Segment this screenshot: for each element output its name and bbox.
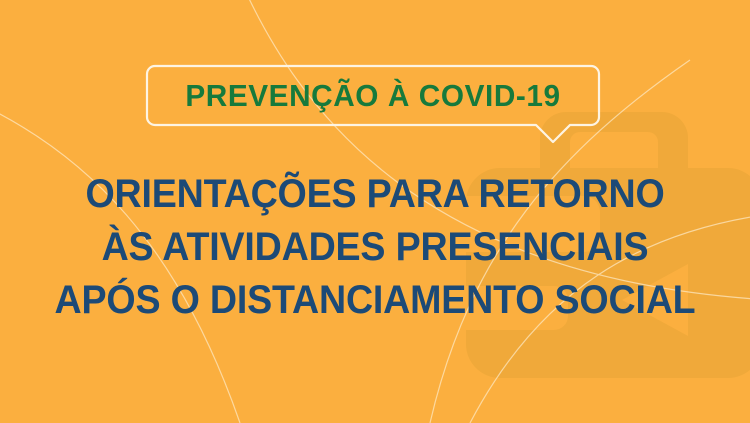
headline-line-1: ORIENTAÇÕES PARA RETORNO bbox=[23, 168, 728, 221]
page-title: ORIENTAÇÕES PARA RETORNO ÀS ATIVIDADES P… bbox=[0, 168, 750, 327]
covid-prevention-banner: PREVENÇÃO À COVID-19 ORIENTAÇÕES PARA RE… bbox=[0, 0, 750, 423]
headline-line-2: ÀS ATIVIDADES PRESENCIAIS bbox=[23, 221, 728, 274]
headline-line-3: APÓS O DISTANCIAMENTO SOCIAL bbox=[23, 274, 728, 327]
prevention-badge-label: PREVENÇÃO À COVID-19 bbox=[154, 64, 592, 127]
prevention-badge: PREVENÇÃO À COVID-19 bbox=[145, 64, 601, 144]
